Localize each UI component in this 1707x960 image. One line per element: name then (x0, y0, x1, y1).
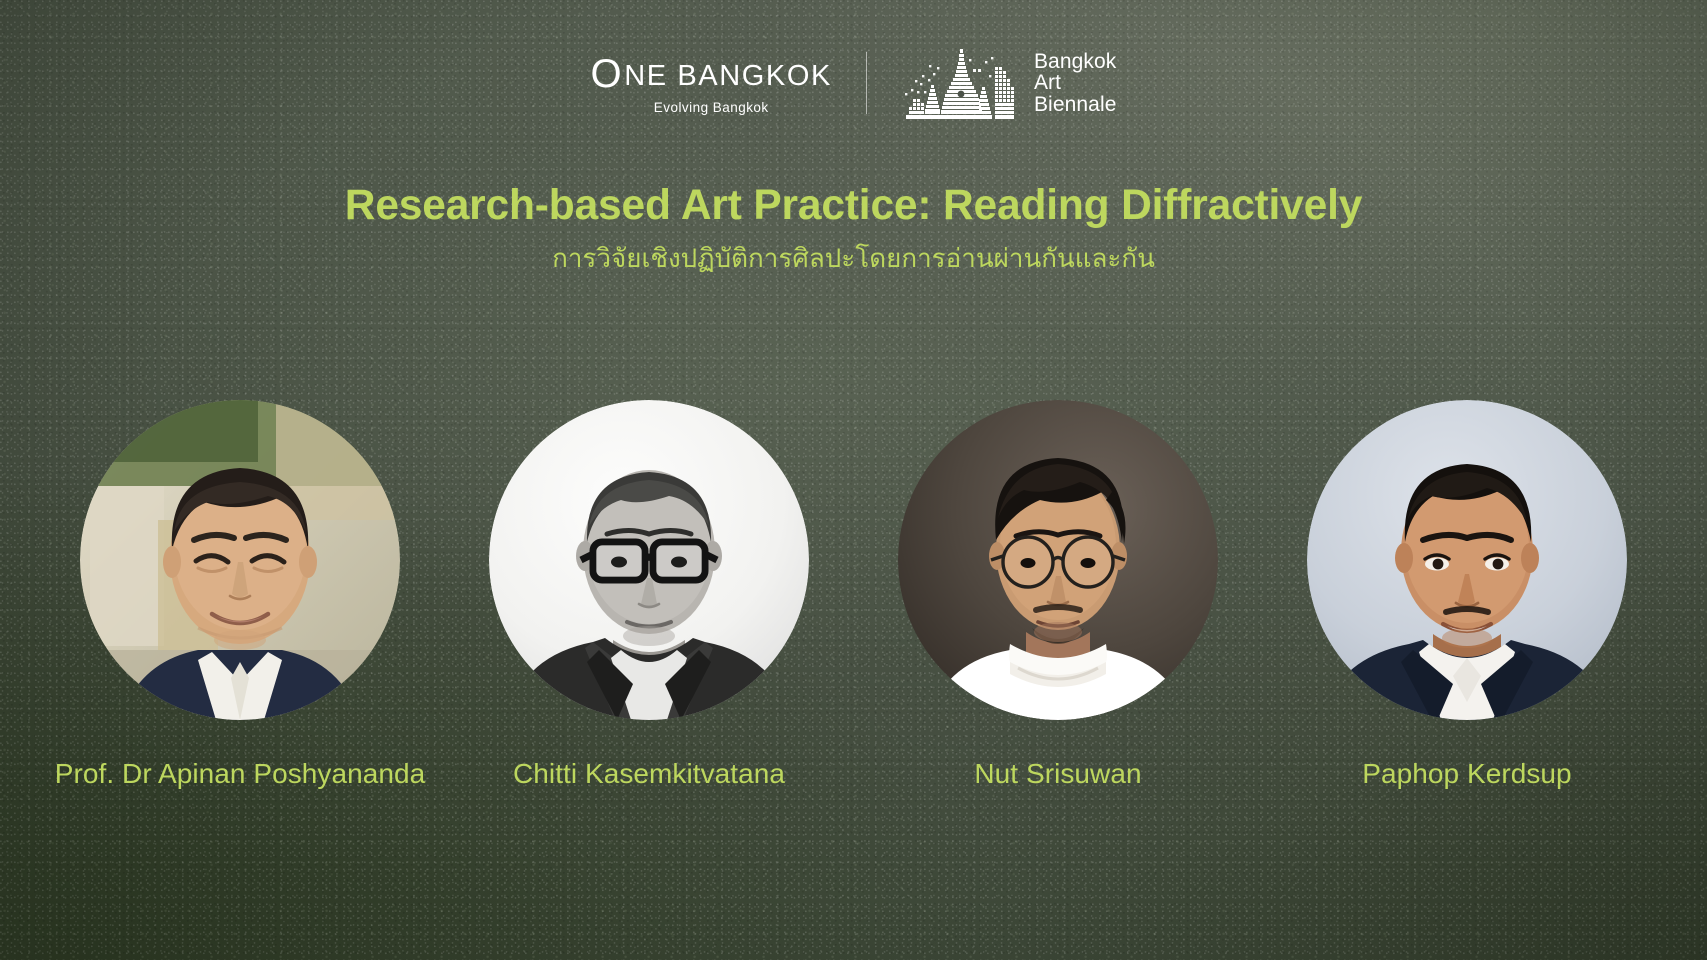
speaker-name: Paphop Kerdsup (1362, 757, 1571, 791)
title-block: Research-based Art Practice: Reading Dif… (0, 182, 1707, 276)
one-bangkok-wordmark: ONE BANGKOK (590, 52, 831, 92)
speaker-card: Chitti Kasemkitvatana (469, 400, 829, 791)
one-bangkok-logo: ONE BANGKOK Evolving Bangkok (590, 52, 865, 115)
logo-bar: ONE BANGKOK Evolving Bangkok (0, 44, 1707, 122)
event-title-en: Research-based Art Practice: Reading Dif… (0, 182, 1707, 230)
portrait-nut-srisuwan (898, 400, 1218, 720)
portrait-paphop-kerdsup (1307, 400, 1627, 720)
one-bangkok-wordmark-rest: NE BANGKOK (624, 62, 832, 91)
event-poster: ONE BANGKOK Evolving Bangkok (0, 0, 1707, 960)
speaker-card: Prof. Dr Apinan Poshyananda (60, 400, 420, 791)
speaker-card: Nut Srisuwan (878, 400, 1238, 791)
one-bangkok-initial-o: O (590, 54, 623, 94)
portrait-chitti-kasemkitvatana (489, 400, 809, 720)
speaker-card: Paphop Kerdsup (1287, 400, 1647, 791)
speaker-name: Prof. Dr Apinan Poshyananda (55, 757, 425, 791)
bangkok-art-biennale-wordmark: Bangkok Art Biennale (1034, 51, 1117, 115)
speaker-list: Prof. Dr Apinan Poshyananda (60, 400, 1647, 791)
speaker-name: Nut Srisuwan (974, 757, 1141, 791)
bab-line-1: Bangkok (1034, 51, 1117, 72)
speaker-name: Chitti Kasemkitvatana (513, 757, 785, 791)
pixelated-temple-skyline-icon (903, 47, 1021, 119)
one-bangkok-tagline: Evolving Bangkok (654, 101, 769, 115)
bab-line-2: Art (1034, 72, 1117, 93)
event-title-th: การวิจัยเชิงปฏิบัติการศิลปะโดยการอ่านผ่า… (0, 241, 1707, 276)
portrait-apinan-poshyananda (80, 400, 400, 720)
bab-line-3: Biennale (1034, 94, 1117, 115)
bangkok-art-biennale-logo: Bangkok Art Biennale (867, 47, 1117, 119)
